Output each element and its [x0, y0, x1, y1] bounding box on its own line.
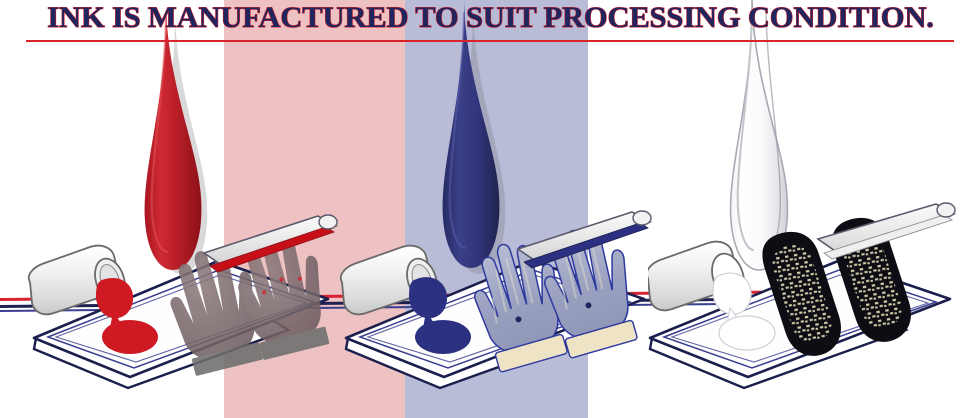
red-ink-scene — [18, 0, 348, 418]
white-ink-scene — [648, 0, 978, 418]
page-title-text: INK IS MANUFACTURED TO SUIT PROCESSING C… — [47, 2, 933, 34]
poster-canvas: INK IS MANUFACTURED TO SUIT PROCESSING C… — [0, 0, 980, 418]
page-title: INK IS MANUFACTURED TO SUIT PROCESSING C… — [0, 2, 980, 34]
page-title-underline — [26, 40, 954, 42]
blue-ink-scene — [340, 0, 670, 418]
